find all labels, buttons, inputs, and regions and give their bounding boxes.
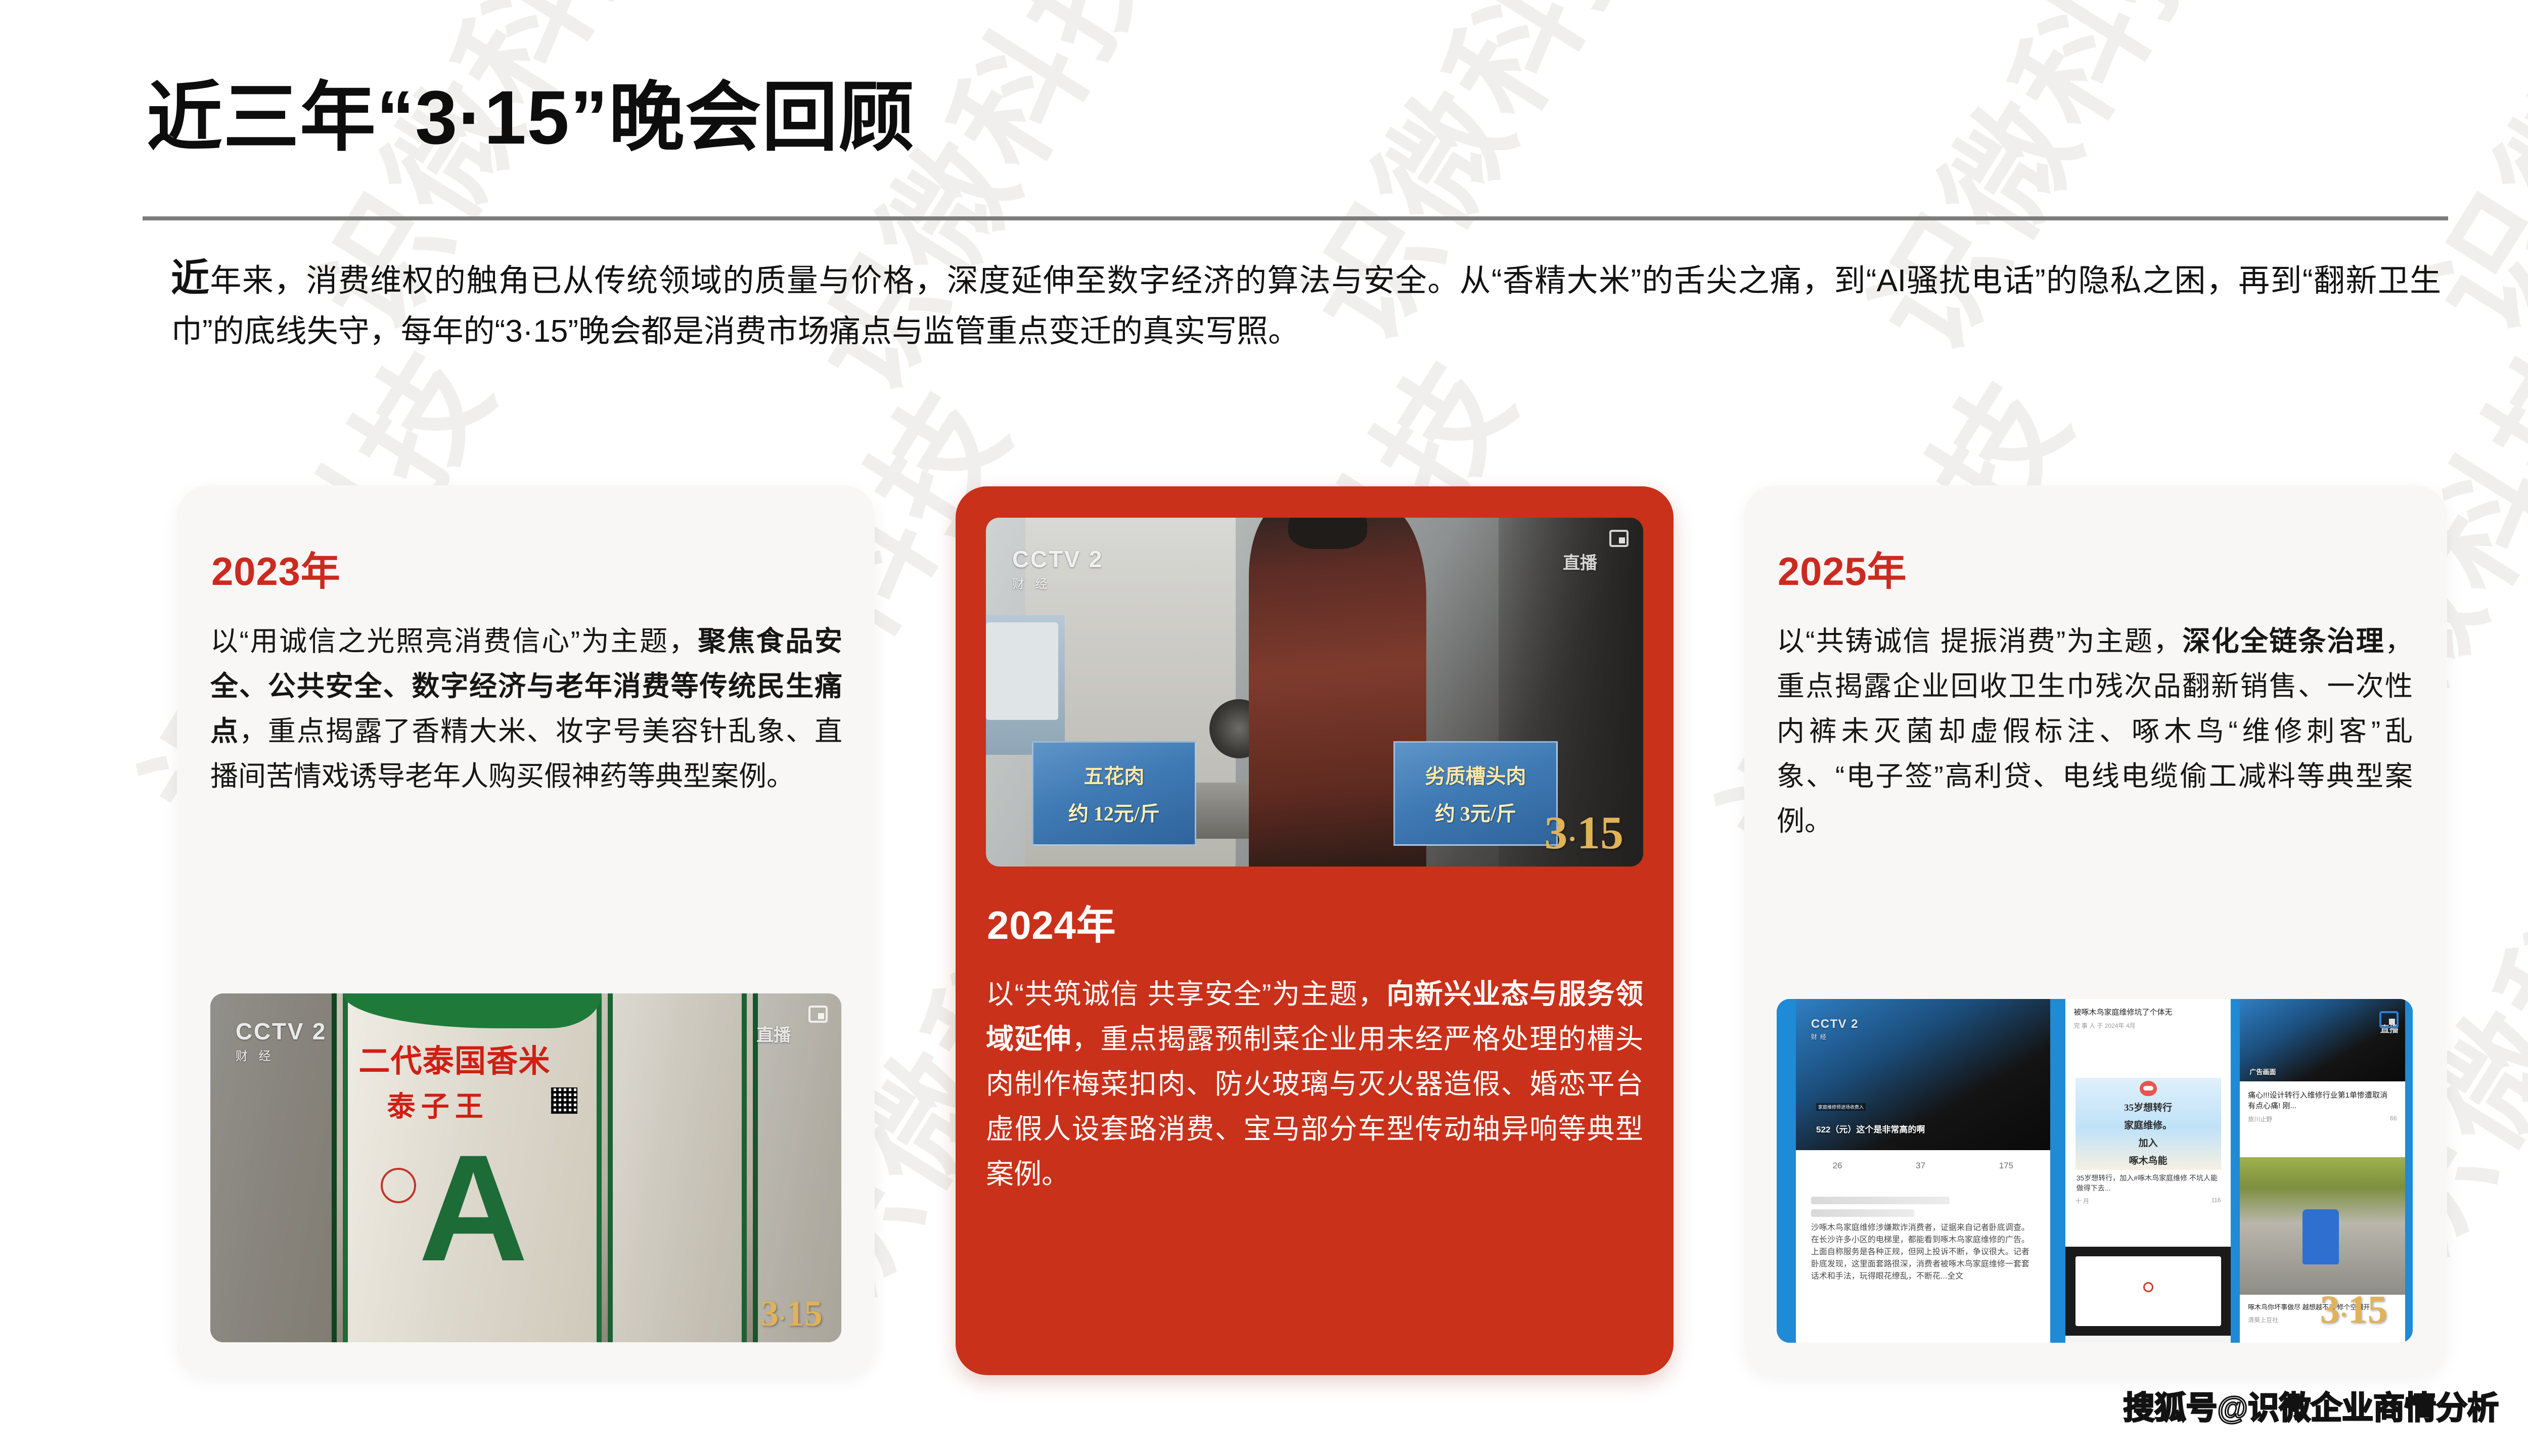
seal-icon (2143, 1282, 2153, 1292)
intro-text: 年来，消费维权的触角已从传统领域的质量与价格，深度延伸至数字经济的算法与安全。从… (171, 263, 2441, 349)
year-card-2023[interactable]: 2023年 以“用诚信之光照亮消费信心”为主题，聚焦食品安全、公共安全、数字经济… (177, 485, 875, 1375)
card-photo-2024: CCTV 2 财经 直播 五花肉 约 12元/斤 劣质槽头肉 约 3元/斤 3·… (986, 518, 1643, 867)
news-likes: 66 (2390, 1115, 2397, 1123)
rice-brand-title: 二代泰国香米 (358, 1035, 550, 1081)
intro-lead-char: 近 (171, 257, 210, 300)
rice-brand-sub: 泰子王 (387, 1084, 489, 1125)
shop-worker-head (1288, 518, 1367, 549)
live-badge: 直播 (1563, 549, 1597, 574)
rice-logo-letter: A (419, 1147, 528, 1268)
footer-account-label: 搜狐号@识微企业商情分析 (2124, 1382, 2499, 1428)
card-photo-2025: CCTV 2 财经 家庭维修师进场收费入 522（元）这个是非常高的啊 26 3… (1777, 999, 2413, 1343)
street-photo (2240, 1157, 2405, 1295)
card-body-suffix: ，重点揭露预制菜企业用未经严格处理的槽头肉制作梅菜扣肉、防火玻璃与灭火器造假、婚… (986, 1023, 1643, 1190)
page-title: 近三年“3·15”晚会回顾 (147, 76, 915, 159)
post-comment-block: 沙啄木鸟家庭维修涉嫌欺诈消费者，证据来自记者卧底调查。在长沙许多小区的电梯里，都… (1796, 1181, 2050, 1343)
ad-frame-label: 广告画面 (2249, 1067, 2276, 1076)
news-headline: 痛心!!!设计转行入维修行业第1单惨遭取消 有点心痛! 刚... (2248, 1090, 2397, 1112)
cctv-logo: CCTV 2 财经 (1811, 1017, 1859, 1041)
price-card-pork-belly: 五花肉 约 12元/斤 (1032, 741, 1196, 846)
logo-315-icon: 3·15 (760, 1295, 823, 1332)
social-media-collage: CCTV 2 财经 家庭维修师进场收费入 522（元）这个是非常高的啊 26 3… (1777, 999, 2413, 1343)
card-body-prefix: 以“用诚信之光照亮消费信心”为主题， (210, 625, 698, 657)
intro-paragraph: 近年来，消费维权的触角已从传统领域的质量与价格，深度延伸至数字经济的算法与安全。… (171, 256, 2441, 357)
video-caption: 522（元）这个是非常高的啊 (1816, 1122, 1925, 1135)
news-headline: 被啄木鸟家庭维修坑了个体无 (2073, 1007, 2222, 1018)
collage-column-video: CCTV 2 财经 家庭维修师进场收费入 522（元）这个是非常高的啊 26 3… (1796, 999, 2050, 1343)
chat-screenshot (2065, 1247, 2231, 1336)
cctv-logo: CCTV 2 财经 (236, 1018, 327, 1064)
logo-315-icon: 3·15 (2320, 1290, 2387, 1329)
card-body-highlight: 深化全链条治理 (2182, 625, 2385, 657)
card-year-label: 2025年 (1778, 540, 1907, 597)
video-overlay-tag: 家庭维修师进场收费入 (1816, 1103, 1866, 1111)
watermark-text: 识微科技 (758, 0, 1195, 421)
title-divider (143, 216, 2448, 220)
news-item: 被啄木鸟家庭维修坑了个体无 完 事 人 于 2024年 4月 (2065, 999, 2231, 1068)
shop-truck (986, 622, 1058, 720)
brand-seal-icon (381, 1168, 416, 1203)
slide-root: 识微科技识微科技识微科技识微科技识微科技识微科技识微科技识微科技识微科技识微科技… (0, 0, 2528, 1456)
promo-likes: 116 (2211, 1197, 2221, 1205)
woodpecker-mascot-icon (2140, 1081, 2157, 1096)
live-badge: 直播 (756, 1021, 791, 1046)
news-meta: 完 事 人 于 2024年 4月 (2073, 1021, 2135, 1030)
qr-code-icon (551, 1087, 577, 1114)
price-label: 五花肉 (1084, 760, 1145, 789)
repair-worker-rider (2303, 1209, 2339, 1264)
card-body-prefix: 以“共筑诚信 共享安全”为主题， (986, 978, 1386, 1010)
card-photo-2023: 二代泰国香米 泰子王 A CCTV 2 财经 直播 3·15 (210, 993, 841, 1342)
card-body-text: 以“用诚信之光照亮消费信心”为主题，聚焦食品安全、公共安全、数字经济与老年消费等… (210, 619, 842, 799)
comment-count: 37 (1916, 1161, 1925, 1171)
news-item: 痛心!!!设计转行入维修行业第1单惨遭取消 有点心痛! 刚... 旅川止野 66 (2240, 1081, 2405, 1157)
rice-bag (608, 993, 747, 1342)
year-card-2025[interactable]: 2025年 以“共铸诚信 提振消费”为主题，深化全链条治理，重点揭露企业回收卫生… (1744, 485, 2447, 1375)
blurred-line (1811, 1209, 1914, 1217)
promo-banner: 35岁想转行 家庭维修。 加入 啄木鸟能 (2075, 1078, 2221, 1170)
card-year-label: 2023年 (211, 540, 340, 597)
card-body-prefix: 以“共铸诚信 提振消费”为主题， (1777, 625, 2182, 657)
card-body-suffix: ，重点揭露企业回收卫生巾残次品翻新销售、一次性内裤未灭菌却虚假标注、啄木鸟“维修… (1777, 625, 2413, 837)
price-label: 劣质槽头肉 (1425, 760, 1526, 789)
promo-caption: 35岁想转行，加入#啄木鸟家庭维修 不坑人能做得下去... (2075, 1170, 2221, 1197)
like-count: 175 (1999, 1161, 2013, 1171)
collage-column-promo: 被啄木鸟家庭维修坑了个体无 完 事 人 于 2024年 4月 35岁想转行 家庭… (2065, 999, 2231, 1343)
promo-author: 十 月 (2075, 1197, 2089, 1205)
watermark-badge-icon (1609, 530, 1629, 547)
video-thumbnail: CCTV 2 财经 家庭维修师进场收费入 522（元）这个是非常高的啊 (1796, 999, 2050, 1150)
card-body-text: 以“共筑诚信 共享安全”为主题，向新兴业态与服务领域延伸，重点揭露预制菜企业用未… (986, 972, 1643, 1197)
watermark-badge-icon (808, 1006, 828, 1023)
cctv-logo: CCTV 2 财经 (1012, 545, 1103, 591)
year-card-2024[interactable]: CCTV 2 财经 直播 五花肉 约 12元/斤 劣质槽头肉 约 3元/斤 3·… (956, 486, 1674, 1375)
comment-text: 沙啄木鸟家庭维修涉嫌欺诈消费者，证据来自记者卧底调查。在长沙许多小区的电梯里，都… (1811, 1222, 2035, 1283)
chat-placeholder (2147, 1295, 2149, 1300)
promo-card: 35岁想转行 家庭维修。 加入 啄木鸟能 35岁想转行，加入#啄木鸟家庭维修 不… (2065, 1068, 2231, 1247)
post-stats: 26 37 175 (1796, 1150, 2050, 1181)
news-author: 清葵上豆社 (2248, 1315, 2278, 1324)
news-author: 旅川止野 (2248, 1115, 2272, 1123)
price-value: 约 12元/斤 (1068, 797, 1160, 827)
price-value: 约 3元/斤 (1435, 797, 1516, 827)
card-body-text: 以“共铸诚信 提振消费”为主题，深化全链条治理，重点揭露企业回收卫生巾残次品翻新… (1777, 619, 2413, 844)
watermark-badge-icon (2379, 1011, 2399, 1028)
card-body-suffix: ，重点揭露了香精大米、妆字号美容针乱象、直播间苦情戏诱导老年人购买假神药等典型案… (210, 715, 842, 792)
card-year-label: 2024年 (987, 894, 1116, 950)
blurred-line (1811, 1197, 1950, 1204)
price-card-neck-meat: 劣质槽头肉 约 3元/斤 (1393, 741, 1558, 846)
share-count: 26 (1833, 1161, 1842, 1171)
logo-315-icon: 3·15 (1544, 809, 1623, 856)
